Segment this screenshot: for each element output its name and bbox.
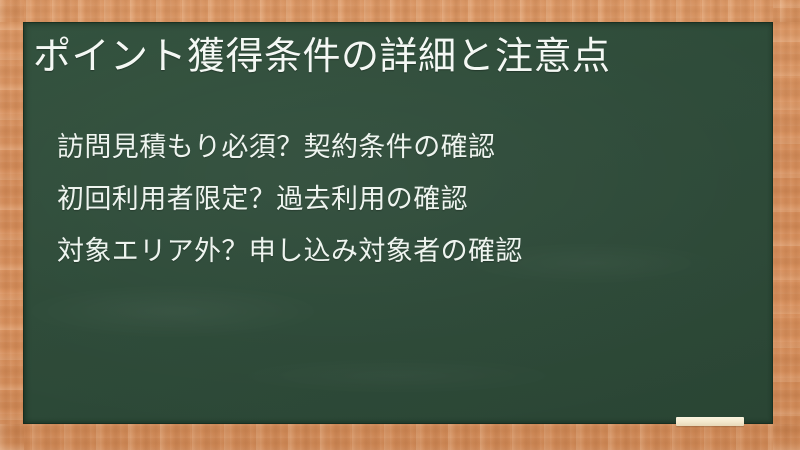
frame-plank-right: [773, 0, 800, 450]
chalkboard-slide: ポイント獲得条件の詳細と注意点 訪問見積もり必須？契約条件の確認 初回利用者限定…: [0, 0, 800, 450]
list-item: 対象エリア外？申し込み対象者の確認: [57, 226, 757, 278]
frame-plank-bottom: [0, 424, 800, 450]
bullet-list: 訪問見積もり必須？契約条件の確認 初回利用者限定？過去利用の確認 対象エリア外？…: [57, 122, 757, 278]
board-content: ポイント獲得条件の詳細と注意点 訪問見積もり必須？契約条件の確認 初回利用者限定…: [23, 22, 773, 424]
frame-plank-top: [0, 0, 800, 22]
list-item: 初回利用者限定？過去利用の確認: [57, 174, 757, 226]
chalk-stick-icon: [676, 417, 744, 426]
list-item: 訪問見積もり必須？契約条件の確認: [57, 122, 757, 174]
chalkboard-surface: ポイント獲得条件の詳細と注意点 訪問見積もり必須？契約条件の確認 初回利用者限定…: [23, 22, 773, 424]
frame-plank-left: [0, 0, 24, 450]
slide-title: ポイント獲得条件の詳細と注意点: [33, 31, 611, 81]
